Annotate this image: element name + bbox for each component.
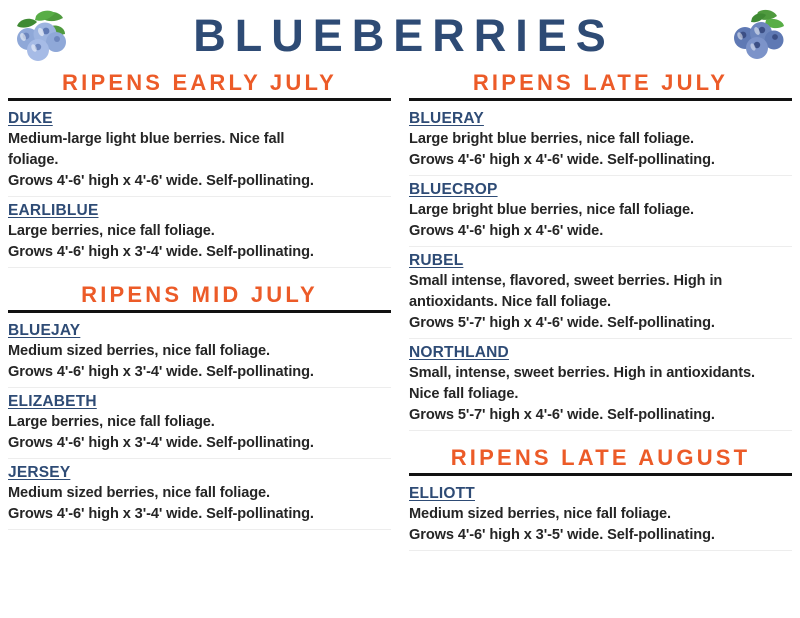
section-rule: [8, 310, 391, 313]
list-item[interactable]: ELIZABETH Large berries, nice fall folia…: [8, 388, 391, 459]
variety-size-line: Grows 4'-6' high x 3'-4' wide. Self-poll…: [8, 433, 391, 454]
variety-description-line: Medium sized berries, nice fall foliage.: [8, 483, 391, 504]
variety-name-link[interactable]: BLUECROP: [409, 179, 498, 200]
variety-name-link[interactable]: JERSEY: [8, 462, 70, 483]
variety-description-line: antioxidants. Nice fall foliage.: [409, 292, 792, 313]
list-item[interactable]: EARLIBLUE Large berries, nice fall folia…: [8, 197, 391, 268]
varieties-columns: RIPENS EARLY JULY DUKE Medium-large ligh…: [0, 70, 800, 551]
list-item[interactable]: BLUECROP Large bright blue berries, nice…: [409, 176, 792, 247]
variety-name-link[interactable]: BLUEJAY: [8, 320, 80, 341]
variety-description-line: Large bright blue berries, nice fall fol…: [409, 200, 792, 221]
section-ripens-late-august: RIPENS LATE AUGUST ELLIOTT Medium sized …: [409, 445, 792, 551]
list-item[interactable]: BLUEJAY Medium sized berries, nice fall …: [8, 317, 391, 388]
right-column: RIPENS LATE JULY BLUERAY Large bright bl…: [409, 70, 792, 551]
variety-size-line: Grows 4'-6' high x 4'-6' wide. Self-poll…: [8, 171, 391, 192]
variety-name-link[interactable]: NORTHLAND: [409, 342, 509, 363]
section-heading: RIPENS LATE AUGUST: [409, 445, 792, 473]
section-heading: RIPENS EARLY JULY: [8, 70, 391, 98]
section-heading: RIPENS MID JULY: [8, 282, 391, 310]
variety-size-line: Grows 4'-6' high x 4'-6' wide. Self-poll…: [409, 150, 792, 171]
list-item[interactable]: ELLIOTT Medium sized berries, nice fall …: [409, 480, 792, 551]
variety-size-line: Grows 4'-6' high x 3'-4' wide. Self-poll…: [8, 242, 391, 263]
variety-name-link[interactable]: BLUERAY: [409, 108, 484, 129]
page-title: BLUEBERRIES: [72, 10, 728, 62]
variety-size-line: Grows 4'-6' high x 3'-5' wide. Self-poll…: [409, 525, 792, 546]
blueberry-varieties-poster: BLUEBERRIES RIPENS: [0, 0, 800, 618]
variety-description-line: Nice fall foliage.: [409, 384, 792, 405]
list-item[interactable]: DUKE Medium-large light blue berries. Ni…: [8, 105, 391, 197]
list-item[interactable]: JERSEY Medium sized berries, nice fall f…: [8, 459, 391, 530]
variety-name-link[interactable]: RUBEL: [409, 250, 463, 271]
variety-description-line: foliage.: [8, 150, 391, 171]
variety-description-line: Large berries, nice fall foliage.: [8, 221, 391, 242]
section-rule: [409, 98, 792, 101]
variety-size-line: Grows 4'-6' high x 3'-4' wide. Self-poll…: [8, 504, 391, 525]
variety-size-line: Grows 4'-6' high x 3'-4' wide. Self-poll…: [8, 362, 391, 383]
section-rule: [8, 98, 391, 101]
variety-name-link[interactable]: EARLIBLUE: [8, 200, 99, 221]
blueberry-cluster-icon-left: [10, 6, 72, 66]
variety-description-line: Small, intense, sweet berries. High in a…: [409, 363, 792, 384]
variety-description-line: Large bright blue berries, nice fall fol…: [409, 129, 792, 150]
blueberry-cluster-icon-right: [728, 6, 790, 66]
variety-size-line: Grows 5'-7' high x 4'-6' wide. Self-poll…: [409, 313, 792, 334]
variety-name-link[interactable]: ELIZABETH: [8, 391, 97, 412]
section-ripens-late-july: RIPENS LATE JULY BLUERAY Large bright bl…: [409, 70, 792, 431]
left-column: RIPENS EARLY JULY DUKE Medium-large ligh…: [8, 70, 391, 530]
section-heading: RIPENS LATE JULY: [409, 70, 792, 98]
variety-name-link[interactable]: ELLIOTT: [409, 483, 475, 504]
variety-description-line: Medium sized berries, nice fall foliage.: [409, 504, 792, 525]
variety-description-line: Medium-large light blue berries. Nice fa…: [8, 129, 391, 150]
list-item[interactable]: NORTHLAND Small, intense, sweet berries.…: [409, 339, 792, 431]
variety-size-line: Grows 5'-7' high x 4'-6' wide. Self-poll…: [409, 405, 792, 426]
section-ripens-early-july: RIPENS EARLY JULY DUKE Medium-large ligh…: [8, 70, 391, 268]
variety-description-line: Large berries, nice fall foliage.: [8, 412, 391, 433]
variety-name-link[interactable]: DUKE: [8, 108, 53, 129]
variety-description-line: Small intense, flavored, sweet berries. …: [409, 271, 792, 292]
list-item[interactable]: BLUERAY Large bright blue berries, nice …: [409, 105, 792, 176]
poster-masthead: BLUEBERRIES: [0, 0, 800, 70]
list-item[interactable]: RUBEL Small intense, flavored, sweet ber…: [409, 247, 792, 339]
variety-description-line: Medium sized berries, nice fall foliage.: [8, 341, 391, 362]
section-ripens-mid-july: RIPENS MID JULY BLUEJAY Medium sized ber…: [8, 282, 391, 530]
section-rule: [409, 473, 792, 476]
variety-size-line: Grows 4'-6' high x 4'-6' wide.: [409, 221, 792, 242]
